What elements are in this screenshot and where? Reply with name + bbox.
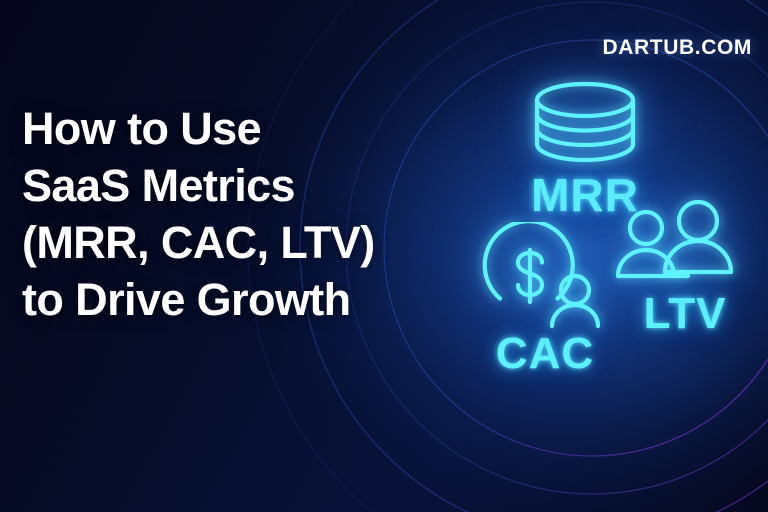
- page-title: How to Use SaaS Metrics (MRR, CAC, LTV) …: [22, 100, 422, 328]
- database-cylinder-icon: [470, 80, 700, 164]
- site-logo: DARTUB.COM: [603, 36, 752, 60]
- metric-cac: CAC: [460, 222, 630, 376]
- title-line-4: to Drive Growth: [22, 271, 422, 328]
- metric-ltv-label: LTV: [610, 292, 760, 336]
- metric-mrr: MRR: [470, 80, 700, 218]
- poster-canvas: DARTUB.COM How to Use SaaS Metrics (MRR,…: [0, 0, 768, 512]
- title-line-3: (MRR, CAC, LTV): [22, 214, 422, 271]
- metric-ltv: LTV: [610, 200, 760, 336]
- two-people-icon: [610, 200, 760, 290]
- dollar-circle-person-icon: [460, 222, 630, 330]
- metric-cac-label: CAC: [460, 332, 630, 376]
- title-line-2: SaaS Metrics: [22, 157, 422, 214]
- title-line-1: How to Use: [22, 100, 422, 157]
